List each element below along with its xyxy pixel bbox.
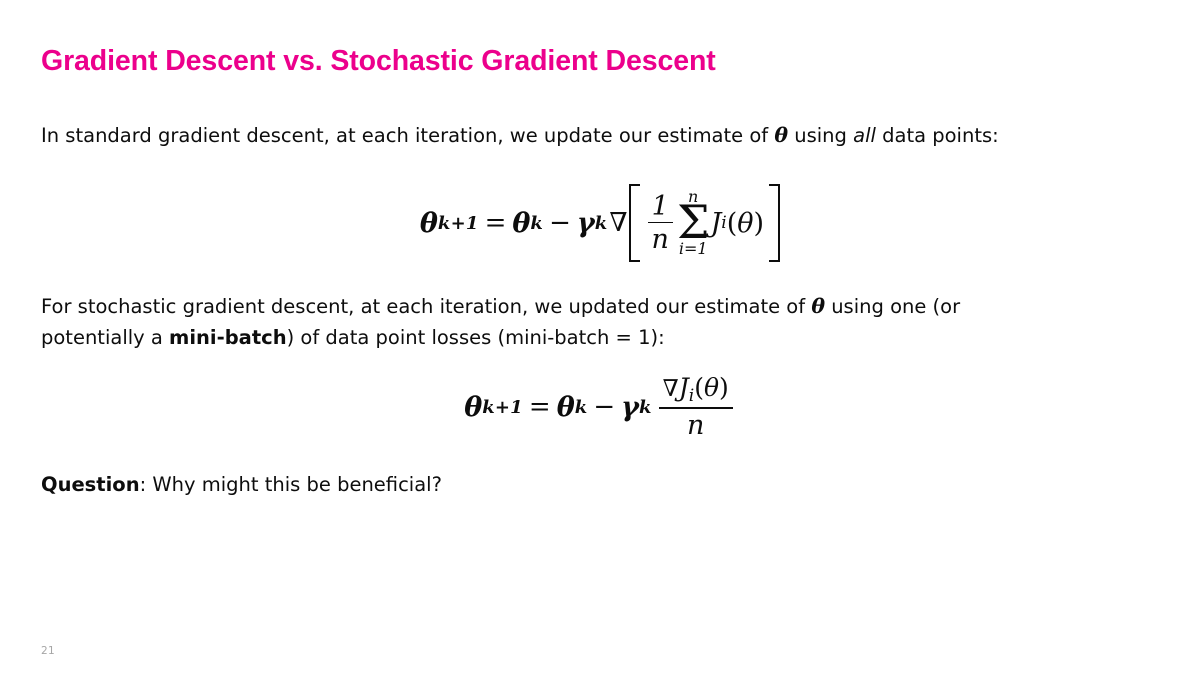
eq1-nabla-icon: ∇ [607,208,628,238]
eq2-rhs-var: θ [557,392,575,423]
eq2-frac-denominator: n [683,409,708,439]
eq2-arg-close: ) [719,373,729,402]
paragraph2-part3: ) of data point losses (mini-batch = 1): [287,326,665,349]
page-title: Gradient Descent vs. Stochastic Gradient… [41,43,1121,79]
paragraph-stochastic-gd: For stochastic gradient descent, at each… [41,291,1001,353]
eq1-sum-lower-limit: i=1 [679,241,708,257]
eq1-equals: = [479,208,513,238]
eq1-fraction: 1 n [648,193,673,254]
paragraph-standard-gd: In standard gradient descent, at each it… [41,120,1151,152]
paragraph1-emphasis: all [853,124,876,147]
eq1-frac-numerator: 1 [648,193,673,222]
question-text: : Why might this be beneficial? [140,473,442,496]
eq1-loss-symbol: J [710,208,721,239]
slide-canvas: Gradient Descent vs. Stochastic Gradient… [0,0,1200,675]
eq1-bracket-contents: 1 n n Σ i=1 Ji(θ) [643,184,767,263]
paragraph-question: Question: Why might this be beneficial? [41,470,841,501]
page-number: 21 [41,645,55,657]
eq2-equals: = [523,392,557,422]
eq1-lhs-sub: k+1 [438,213,479,234]
eq2-nabla-icon: ∇ [663,376,679,402]
eq1-frac-denominator: n [648,223,673,253]
eq1-right-bracket [769,184,780,263]
eq1-gamma: γ [577,208,595,239]
equation-stochastic-gradient-descent: θk+1 = θk − γk ∇Ji(θ) n [0,372,1200,442]
equation-gradient-descent: θk+1 = θk − γk ∇ 1 n n Σ i=1 Ji(θ) [0,180,1200,266]
eq1-lhs-var: θ [420,208,438,239]
theta-symbol: θ [774,123,788,147]
eq1-summation: n Σ i=1 [677,189,710,258]
paragraph1-part3: data points: [876,124,999,147]
eq2-lhs-sub: k+1 [482,397,523,418]
eq2-gamma: γ [621,392,639,423]
eq2-minus: − [587,392,621,422]
eq1-arg-open: ( [727,208,738,239]
eq1-loss-arg: θ [737,208,753,239]
theta-symbol: θ [811,294,825,318]
eq2-arg-open: ( [694,373,704,402]
eq1-rhs-var: θ [512,208,530,239]
eq2-fraction: ∇Ji(θ) n [659,375,733,439]
question-label: Question [41,473,140,496]
eq1-gamma-sub: k [595,213,608,234]
paragraph1-part1: In standard gradient descent, at each it… [41,124,774,147]
eq2-frac-numerator: ∇Ji(θ) [659,375,733,407]
eq1-sigma-icon: Σ [677,204,710,242]
eq2-gamma-sub: k [639,397,652,418]
eq1-minus: − [543,208,577,238]
paragraph2-part1: For stochastic gradient descent, at each… [41,295,811,318]
eq1-rhs-sub: k [530,213,543,234]
eq1-arg-close: ) [754,208,765,239]
paragraph1-part2: using [788,124,853,147]
eq1-bracket-group: 1 n n Σ i=1 Ji(θ) [629,184,781,263]
eq2-loss-arg: θ [704,373,719,402]
eq2-loss-symbol: J [679,373,689,402]
eq2-lhs-var: θ [464,392,482,423]
eq2-rhs-sub: k [575,397,588,418]
eq1-left-bracket [629,184,640,263]
paragraph2-bold-term: mini-batch [169,326,287,349]
